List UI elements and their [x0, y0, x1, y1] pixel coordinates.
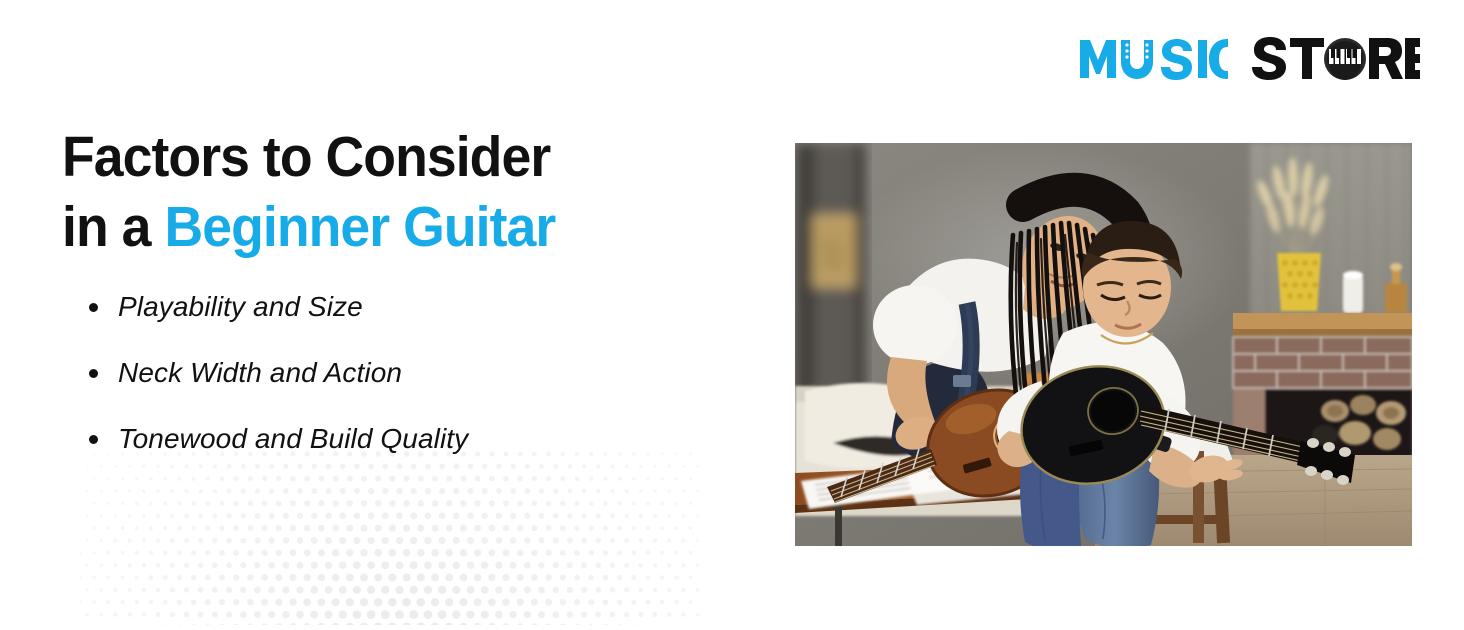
logo-music-word — [1078, 36, 1228, 82]
list-item: Playability and Size — [78, 290, 468, 323]
list-item: Neck Width and Action — [78, 356, 468, 389]
candle — [1343, 271, 1363, 313]
lesson-photo — [795, 143, 1412, 546]
yellow-vase — [1277, 253, 1321, 311]
headline-line-2-accent: Beginner Guitar — [164, 195, 555, 259]
list-item: Tonewood and Build Quality — [78, 422, 468, 455]
lesson-photo-illustration — [795, 143, 1412, 546]
headline-line-1: Factors to Consider — [62, 125, 550, 189]
mantel — [1233, 313, 1412, 337]
factors-list: Playability and Size Neck Width and Acti… — [78, 290, 468, 455]
logo-store-svg — [1250, 35, 1420, 83]
halftone-dot-pattern — [80, 450, 700, 625]
halftone-dots-svg — [80, 450, 700, 625]
brand-logo[interactable] — [1078, 34, 1420, 84]
list-item-label: Tonewood and Build Quality — [118, 423, 468, 454]
headline-line-2-plain: in a — [62, 195, 164, 259]
page-title: Factors to Consider in a Beginner Guitar — [62, 122, 720, 262]
list-item-label: Neck Width and Action — [118, 357, 402, 388]
guitar-fretboard-icon — [1121, 40, 1153, 79]
logo-music-svg — [1078, 36, 1228, 82]
logo-store-word — [1250, 35, 1420, 83]
list-item-label: Playability and Size — [118, 291, 363, 322]
piano-keys-circle-icon — [1324, 38, 1366, 80]
